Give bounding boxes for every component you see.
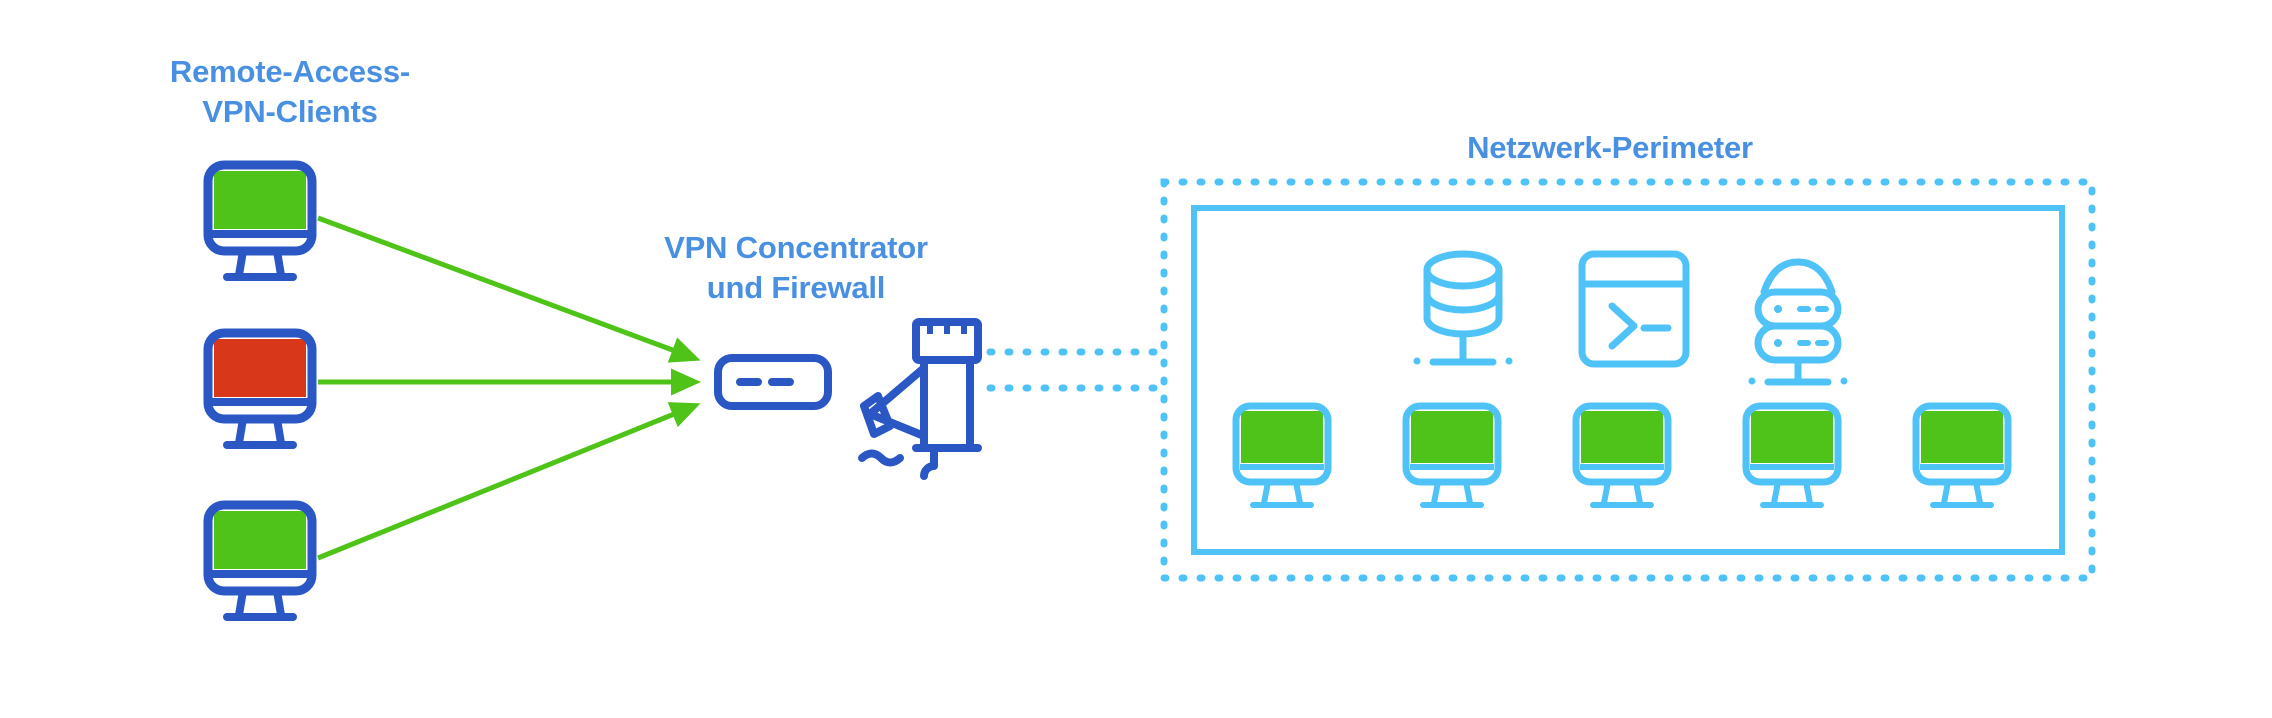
diagram-canvas: Remote-Access- VPN-Clients VPN Concentra… (0, 0, 2272, 718)
workstation-5-screen (1921, 411, 2003, 463)
vpn-tunnel-arrows (318, 218, 694, 558)
server-led-2 (1774, 339, 1782, 347)
tunnel-client-1 (318, 218, 694, 358)
terminal-prompt-chevron (1612, 306, 1634, 346)
server-rack-cap (1764, 262, 1832, 292)
terminal-icon (1582, 254, 1686, 364)
database-dot-right (1506, 358, 1513, 365)
database-icon (1427, 254, 1499, 286)
remote-client-3[interactable] (208, 505, 312, 617)
tunnel-client-3 (318, 406, 694, 558)
terminal-node[interactable] (1582, 254, 1686, 364)
workstation-4-screen (1751, 411, 1833, 463)
client-3-screen (214, 511, 306, 569)
server-dot-right (1841, 378, 1848, 385)
remote-client-2[interactable] (208, 333, 312, 445)
perimeter-outer-dotted-border (1164, 182, 2092, 578)
server-rack-node[interactable] (1749, 262, 1848, 385)
workstation-3-screen (1581, 411, 1663, 463)
workstation-2-screen (1411, 411, 1493, 463)
firewall-water-icon (862, 454, 900, 463)
firewall-perimeter-uplinks (990, 352, 1162, 388)
perimeter-workstation-3[interactable] (1576, 406, 1668, 505)
server-led-1 (1774, 305, 1782, 313)
remote-client-1[interactable] (208, 165, 312, 277)
database-node[interactable] (1414, 254, 1513, 365)
database-tier-2 (1427, 294, 1499, 334)
vpn-concentrator[interactable] (718, 358, 828, 406)
client-2-screen (214, 339, 306, 397)
perimeter-workstation-1[interactable] (1236, 406, 1328, 505)
perimeter-workstation-5[interactable] (1916, 406, 2008, 505)
perimeter-workstation-4[interactable] (1746, 406, 1838, 505)
workstation-1-screen (1241, 411, 1323, 463)
firewall[interactable] (862, 322, 978, 476)
server-dot-left (1749, 378, 1756, 385)
firewall-post (924, 448, 934, 476)
database-tier-1 (1427, 270, 1499, 310)
client-1-screen (214, 171, 306, 229)
perimeter-inner-border (1194, 208, 2062, 552)
firewall-tower-icon (924, 360, 970, 448)
perimeter-workstation-2[interactable] (1406, 406, 1498, 505)
diagram-graphics (0, 0, 2272, 718)
database-dot-left (1414, 358, 1421, 365)
